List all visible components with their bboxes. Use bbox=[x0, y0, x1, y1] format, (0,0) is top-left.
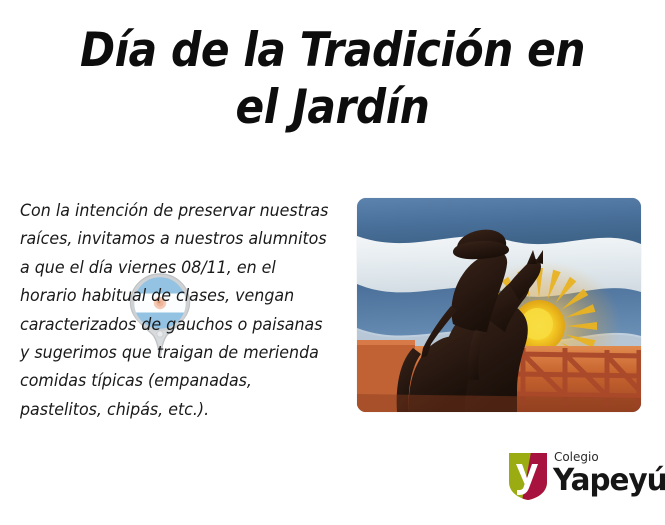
title-line-2: el Jardín bbox=[33, 79, 632, 136]
colegio-yapeyu-logo: Colegio Yapeyú bbox=[508, 450, 648, 505]
gaucho-photo bbox=[357, 198, 641, 412]
logo-wordmark: Colegio Yapeyú bbox=[553, 450, 648, 498]
title-line-1: Día de la Tradición en bbox=[33, 22, 632, 79]
body-paragraph: Con la intención de preservar nuestras r… bbox=[20, 197, 337, 424]
logo-yapeyu-text: Yapeyú bbox=[553, 464, 646, 498]
logo-colegio-text: Colegio bbox=[553, 450, 644, 464]
yapeyu-shield-icon bbox=[508, 452, 548, 501]
slide-canvas: Día de la Tradición en el Jardín bbox=[0, 0, 665, 525]
page-title: Día de la Tradición en el Jardín bbox=[0, 22, 665, 136]
